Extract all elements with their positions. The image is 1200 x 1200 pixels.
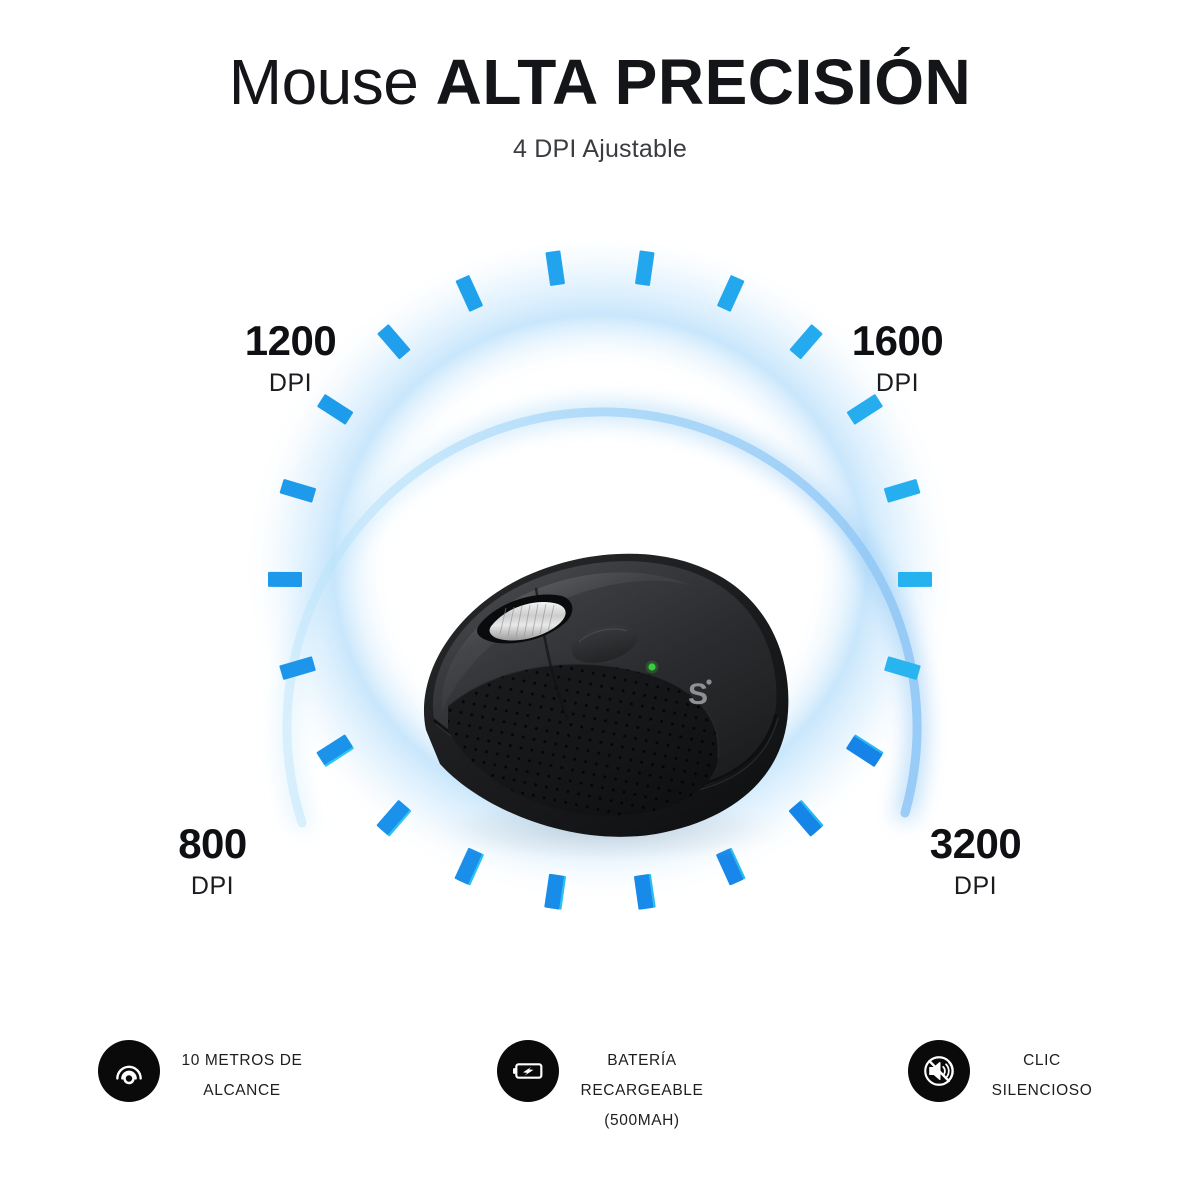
dial-tick [898,572,932,587]
feature-battery-line-1: BATERÍA [581,1046,704,1076]
dpi-stop-800-value: 800 [110,823,315,865]
dpi-stop-800-unit: DPI [110,874,315,899]
feature-item-range: 10 METROS DE ALCANCE [0,1020,400,1190]
dpi-stop-1200: 1200 DPI [188,320,393,396]
dpi-stop-800: 800 DPI [110,823,315,899]
brand-logo-letter: S [688,678,708,711]
page-subtitle: 4 DPI Ajustable [0,135,1200,164]
dpi-stop-1600: 1600 DPI [795,320,1000,396]
mute-speaker-icon-circle [908,1040,970,1102]
dpi-stop-1200-unit: DPI [188,371,393,396]
feature-label-range: 10 METROS DE ALCANCE [182,1040,303,1106]
title-light-part: Mouse [229,46,436,118]
dpi-stop-3200-value: 3200 [873,823,1078,865]
hero-section: 1200 DPI 1600 DPI 800 DPI 3200 DPI [0,240,1200,940]
title-bold-part: ALTA PRECISIÓN [436,46,972,118]
led-glow [646,661,659,674]
wireless-signal-icon-circle [98,1040,160,1102]
dpi-stop-1600-unit: DPI [795,371,1000,396]
dpi-stop-3200-unit: DPI [873,874,1078,899]
feature-label-silent: CLIC SILENCIOSO [992,1040,1093,1106]
feature-list: 10 METROS DE ALCANCE BATERÍA RECARGEABLE… [0,1020,1200,1190]
mouse-illustration: S [330,468,850,868]
header: Mouse ALTA PRECISIÓN 4 DPI Ajustable [0,48,1200,164]
battery-charging-icon-circle [497,1040,559,1102]
dial-tick [268,572,302,587]
product-infographic: Mouse ALTA PRECISIÓN 4 DPI Ajustable [0,0,1200,1200]
feature-range-line-2: ALCANCE [182,1076,303,1106]
dpi-stop-1600-value: 1600 [795,320,1000,362]
page-title: Mouse ALTA PRECISIÓN [0,48,1200,117]
feature-battery-line-3: (500MAH) [581,1106,704,1136]
dpi-stop-3200: 3200 DPI [873,823,1078,899]
brand-logo-dot [706,679,711,684]
wireless-signal-icon [109,1051,149,1091]
feature-silent-line-1: CLIC [992,1046,1093,1076]
feature-battery-line-2: RECARGEABLE [581,1076,704,1106]
feature-label-battery: BATERÍA RECARGEABLE (500MAH) [581,1040,704,1137]
feature-item-battery: BATERÍA RECARGEABLE (500MAH) [400,1020,800,1190]
mute-speaker-icon [919,1051,959,1091]
dpi-stop-1200-value: 1200 [188,320,393,362]
feature-silent-line-2: SILENCIOSO [992,1076,1093,1106]
product-image: S [330,468,850,868]
feature-range-line-1: 10 METROS DE [182,1046,303,1076]
feature-item-silent: CLIC SILENCIOSO [800,1020,1200,1190]
battery-charging-icon [508,1051,548,1091]
